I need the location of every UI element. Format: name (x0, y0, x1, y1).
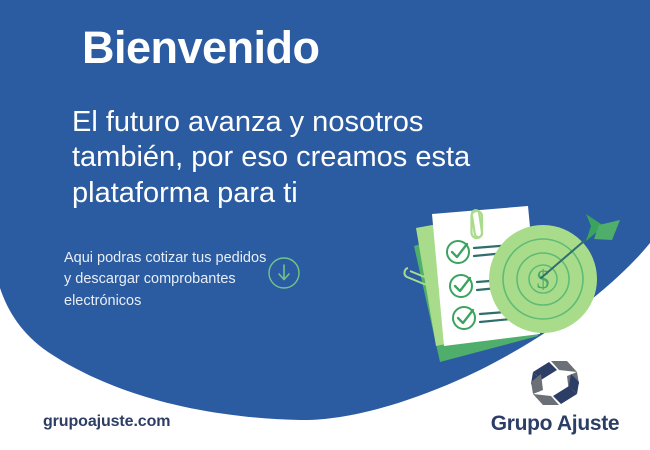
banner-subheadline: El futuro avanza y nosotros también, por… (72, 105, 492, 211)
banner-body-text: Aqui podras cotizar tus pedidos y descar… (64, 248, 269, 312)
down-arrow-circle-icon[interactable] (267, 256, 301, 290)
site-url-label[interactable]: grupoajuste.com (43, 413, 170, 431)
hexagon-pinwheel-logo-icon (527, 358, 583, 408)
page-title: Bienvenido (82, 24, 320, 71)
brand-lockup: Grupo Ajuste (475, 358, 635, 436)
brand-name-label: Grupo Ajuste (475, 412, 635, 436)
welcome-banner: $ Bienvenido El futuro avanza y nosotros… (0, 0, 650, 450)
banner-text-layer: Bienvenido El futuro avanza y nosotros t… (0, 0, 650, 450)
